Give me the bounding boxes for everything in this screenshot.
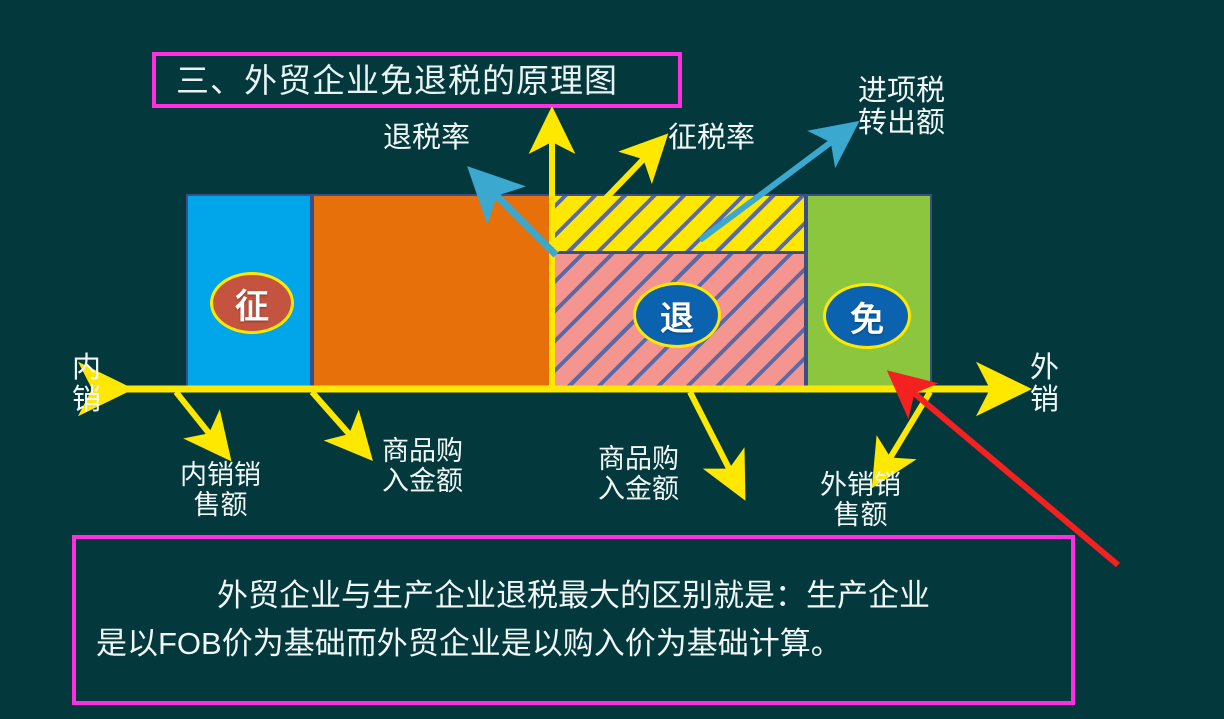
label-refund-rate: 退税率 (383, 122, 470, 154)
purchase-right-callout-arrow (690, 392, 740, 490)
note-line-1: 外贸企业与生产企业退税最大的区别就是：生产企业 (90, 579, 1057, 613)
label-tax-rate: 征税率 (668, 122, 755, 154)
slide-canvas: 三、外贸企业免退税的原理图 征 退 免 (0, 0, 1224, 719)
axis-label-domestic: 内 销 (72, 352, 101, 417)
note-box: 外贸企业与生产企业退税最大的区别就是：生产企业 是以FOB价为基础而外贸企业是以… (72, 535, 1075, 705)
label-domestic-sales-amount: 内销销 售额 (180, 460, 261, 520)
hatch-pattern-icon (555, 196, 804, 251)
axis-label-export: 外 销 (1030, 352, 1059, 417)
label-purchase-amount-left: 商品购 入金额 (382, 436, 463, 496)
bar-segment-purchase-orange (312, 194, 553, 388)
badge-exempt: 免 (823, 283, 911, 349)
domestic-sales-callout-arrow (176, 392, 224, 452)
title-box: 三、外贸企业免退税的原理图 (152, 52, 682, 108)
label-export-sales-amount: 外销销 售额 (820, 470, 901, 530)
badge-levy: 征 (210, 272, 294, 334)
badge-refund: 退 (633, 282, 721, 348)
page-title: 三、外贸企业免退税的原理图 (156, 64, 618, 97)
export-sales-callout-arrow (878, 392, 930, 478)
bar-segment-input-tax-yellow (553, 194, 806, 253)
label-input-tax-transfer: 进项税 转出额 (858, 75, 945, 140)
note-line-2: 是以FOB价为基础而外贸企业是以购入价为基础计算。 (90, 627, 1057, 661)
purchase-left-callout-arrow (312, 392, 365, 452)
label-purchase-amount-right: 商品购 入金额 (598, 444, 679, 504)
